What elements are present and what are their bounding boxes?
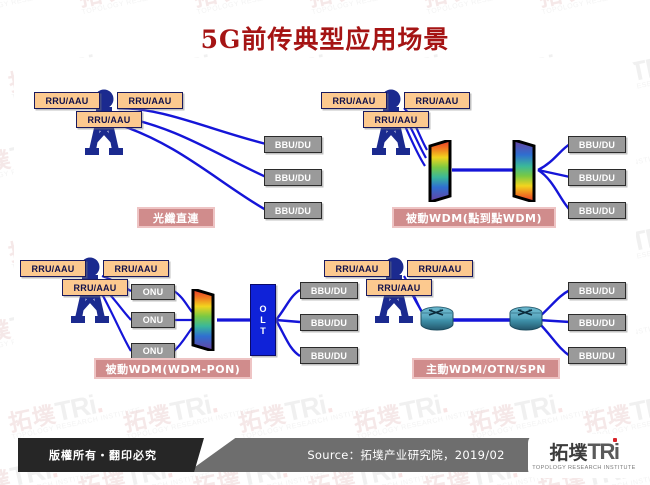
caption-text: 被動WDM(點到點WDM) <box>406 210 542 226</box>
caption-text: 主動WDM/OTN/SPN <box>426 361 546 377</box>
rru-aau-label: RRU/AAU <box>419 264 462 274</box>
rru-aau-label: RRU/AAU <box>378 283 421 293</box>
bbu-du-label: BBU/DU <box>579 173 615 183</box>
router-icon <box>419 304 455 339</box>
onu-label: ONU <box>143 315 164 325</box>
bbu-du-box[interactable]: BBU/DU <box>568 314 626 331</box>
olt-letter-t: T <box>260 326 266 337</box>
bbu-du-box[interactable]: BBU/DU <box>264 136 322 153</box>
bbu-du-box[interactable]: BBU/DU <box>300 282 358 299</box>
rru-aau-label: RRU/AAU <box>129 96 172 106</box>
logo-red-dot <box>613 438 617 442</box>
bbu-du-label: BBU/DU <box>275 173 311 183</box>
rru-aau-box[interactable]: RRU/AAU <box>62 279 128 296</box>
watermark-tile: 拓墣TRi.TOPOLOGY RESEARCH INSTITUTE <box>75 0 211 16</box>
olt-box[interactable]: O L T <box>250 284 276 356</box>
diagram-panel: RRU/AAU RRU/AAU RRU/AAU BBU/DU BBU/DU BB… <box>14 58 636 390</box>
watermark-tile: 拓墣TRi.TOPOLOGY RESEARCH INSTITUTE <box>420 0 556 16</box>
caption-wdm-pon: 被動WDM(WDM-PON) <box>94 358 252 379</box>
onu-box[interactable]: ONU <box>131 343 175 359</box>
bbu-du-label: BBU/DU <box>579 206 615 216</box>
rru-aau-box[interactable]: RRU/AAU <box>407 260 473 277</box>
caption-text: 被動WDM(WDM-PON) <box>106 361 241 377</box>
bbu-du-box[interactable]: BBU/DU <box>300 314 358 331</box>
rru-aau-label: RRU/AAU <box>333 96 376 106</box>
onu-label: ONU <box>143 346 164 356</box>
rru-aau-label: RRU/AAU <box>416 96 459 106</box>
bbu-du-box[interactable]: BBU/DU <box>264 169 322 186</box>
caption-text: 光纖直連 <box>153 210 199 226</box>
wdm-prism-icon <box>423 140 455 207</box>
onu-box[interactable]: ONU <box>131 312 175 328</box>
bbu-du-label: BBU/DU <box>311 351 347 361</box>
rru-aau-box[interactable]: RRU/AAU <box>117 92 183 109</box>
rru-aau-box[interactable]: RRU/AAU <box>103 260 169 277</box>
caption-passive-wdm-p2p: 被動WDM(點到點WDM) <box>392 207 556 228</box>
tri-logo: 拓墣 TRi TOPOLOGY RESEARCH INSTITUTE <box>528 434 640 478</box>
footer: Source：拓墣产业研究院，2019/02 版權所有・翻印必究 拓墣 TRi … <box>0 432 650 485</box>
bbu-du-box[interactable]: BBU/DU <box>300 347 358 364</box>
bbu-du-label: BBU/DU <box>579 286 615 296</box>
bbu-du-box[interactable]: BBU/DU <box>568 202 626 219</box>
olt-letter-o: O <box>259 304 266 315</box>
copyright-notice: 版權所有・翻印必究 <box>18 438 188 472</box>
rru-aau-label: RRU/AAU <box>115 264 158 274</box>
rru-aau-box[interactable]: RRU/AAU <box>34 92 100 109</box>
rru-aau-label: RRU/AAU <box>46 96 89 106</box>
olt-letter-l: L <box>260 315 266 326</box>
logo-tri-label: TRi <box>588 439 619 464</box>
bbu-du-label: BBU/DU <box>275 140 311 150</box>
logo-tri-text: TRi <box>588 441 619 463</box>
bbu-du-label: BBU/DU <box>311 318 347 328</box>
bbu-du-label: BBU/DU <box>579 140 615 150</box>
rru-aau-box[interactable]: RRU/AAU <box>20 260 86 277</box>
rru-aau-label: RRU/AAU <box>375 115 418 125</box>
watermark-tile: 拓墣TRi.TOPOLOGY RESEARCH INSTITUTE <box>0 0 96 16</box>
rru-aau-label: RRU/AAU <box>336 264 379 274</box>
bbu-du-box[interactable]: BBU/DU <box>568 169 626 186</box>
wdm-prism-icon <box>509 140 541 207</box>
bbu-du-box[interactable]: BBU/DU <box>568 136 626 153</box>
rru-aau-label: RRU/AAU <box>88 115 131 125</box>
watermark-tile: 拓墣TRi.TOPOLOGY RESEARCH INSTITUTE <box>305 0 441 16</box>
rru-aau-label: RRU/AAU <box>74 283 117 293</box>
source-text: Source：拓墣产业研究院，2019/02 <box>307 447 504 463</box>
caption-fiber-direct: 光纖直連 <box>137 207 215 228</box>
rru-aau-label: RRU/AAU <box>32 264 75 274</box>
rru-aau-box[interactable]: RRU/AAU <box>404 92 470 109</box>
rru-aau-box[interactable]: RRU/AAU <box>366 279 432 296</box>
logo-subtitle: TOPOLOGY RESEARCH INSTITUTE <box>532 465 636 471</box>
watermark-tile: 拓墣TRi.TOPOLOGY RESEARCH INSTITUTE <box>190 0 326 16</box>
bbu-du-label: BBU/DU <box>311 286 347 296</box>
bbu-du-box[interactable]: BBU/DU <box>568 282 626 299</box>
bbu-du-label: BBU/DU <box>275 206 311 216</box>
rru-aau-box[interactable]: RRU/AAU <box>321 92 387 109</box>
wdm-prism-icon <box>188 289 220 356</box>
bbu-du-box[interactable]: BBU/DU <box>568 347 626 364</box>
bbu-du-box[interactable]: BBU/DU <box>264 202 322 219</box>
slide-canvas: 拓墣TRi.TOPOLOGY RESEARCH INSTITUTE拓墣TRi.T… <box>0 0 650 485</box>
caption-active-wdm: 主動WDM/OTN/SPN <box>412 358 560 379</box>
onu-box[interactable]: ONU <box>131 284 175 300</box>
rru-aau-box[interactable]: RRU/AAU <box>324 260 390 277</box>
logo-chinese: 拓墣 <box>550 444 588 463</box>
onu-label: ONU <box>143 287 164 297</box>
bbu-du-label: BBU/DU <box>579 318 615 328</box>
router-icon <box>508 304 544 339</box>
watermark-tile: 拓墣TRi.TOPOLOGY RESEARCH INSTITUTE <box>535 0 650 16</box>
rru-aau-box[interactable]: RRU/AAU <box>363 111 429 128</box>
rru-aau-box[interactable]: RRU/AAU <box>76 111 142 128</box>
page-title: 5G前传典型应用场景 <box>0 20 650 56</box>
bbu-du-label: BBU/DU <box>579 351 615 361</box>
